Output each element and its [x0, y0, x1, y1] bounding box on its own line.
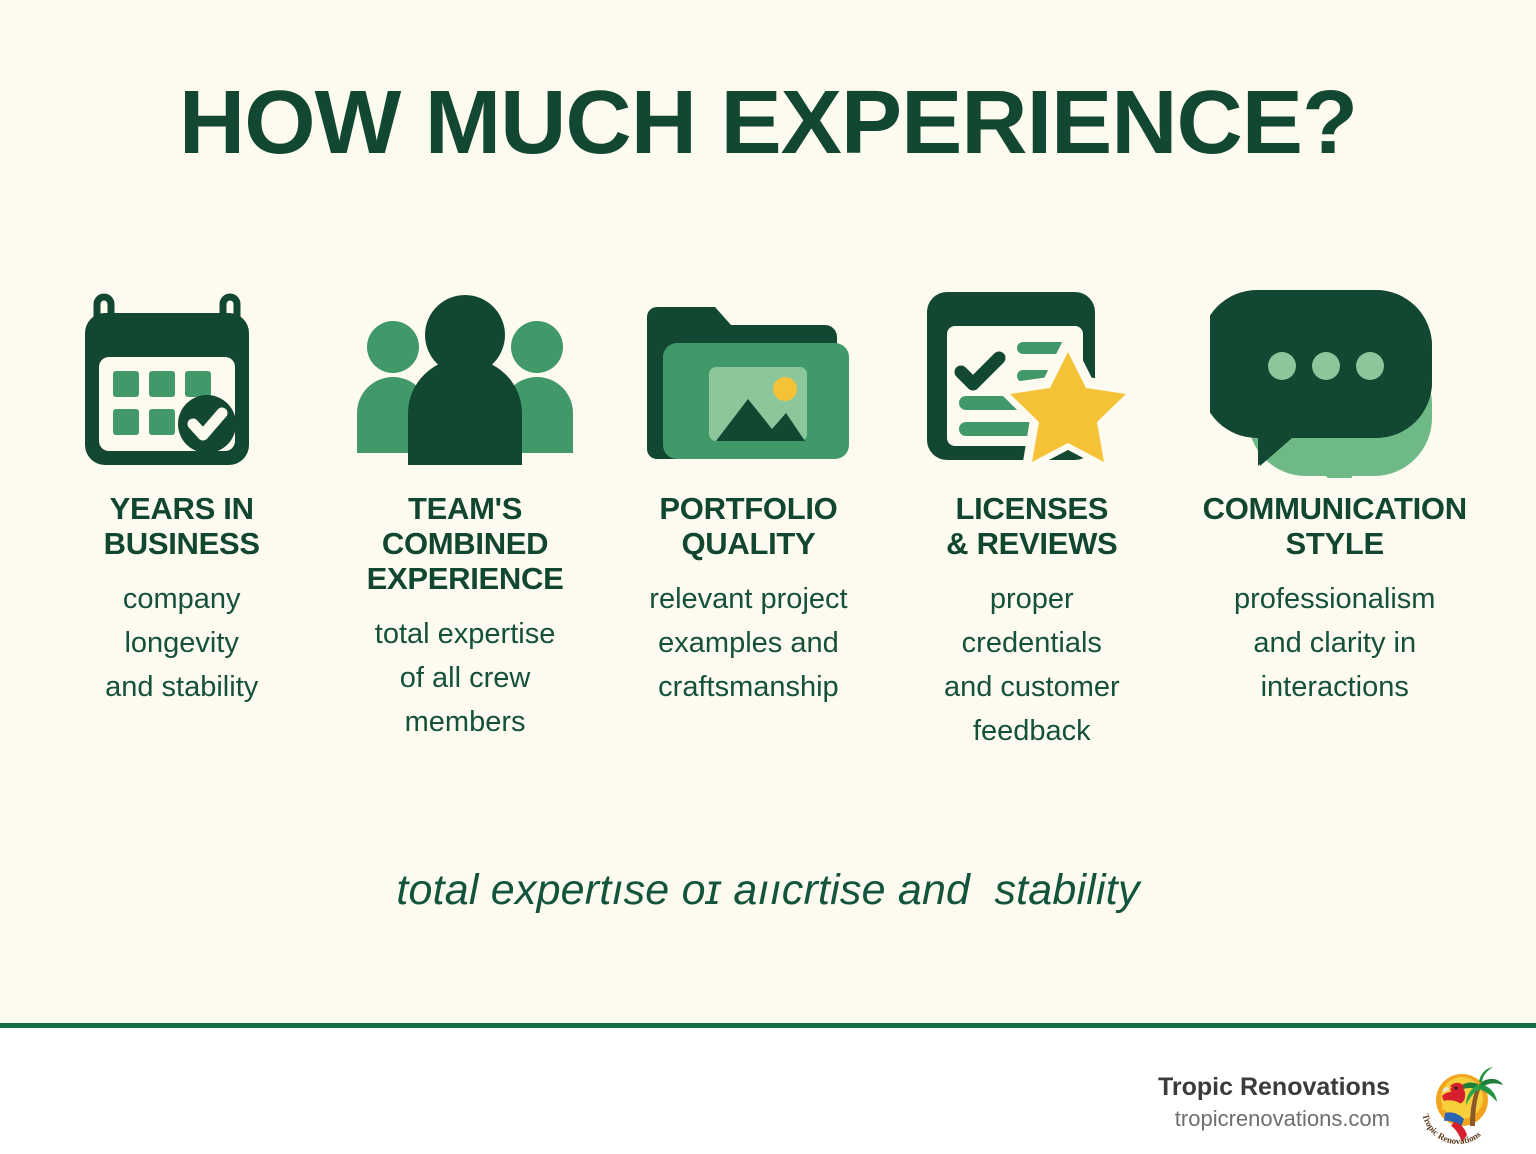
column-description: professionalism and clarity in interacti…: [1234, 577, 1435, 709]
column-title: COMMUNICATION STYLE: [1203, 491, 1467, 561]
column-description: relevant project examples and craftsmans…: [649, 577, 847, 709]
brand-name: Tropic Renovations: [1158, 1071, 1390, 1104]
infographic-poster: HOW MUCH EXPERIENCE? YEARS: [0, 0, 1536, 1154]
column-title: LICENSES & REVIEWS: [946, 491, 1117, 561]
column-team-experience: TEAM'S COMBINED EXPERIENCE total experti…: [323, 270, 606, 744]
folder-photo-icon: [633, 270, 863, 485]
footer-text: Tropic Renovations tropicrenovations.com: [1158, 1071, 1390, 1133]
footer: Tropic Renovations tropicrenovations.com: [0, 1028, 1536, 1154]
column-description: company longevity and stability: [105, 577, 258, 709]
tropic-renovations-logo: Tropic Renovations: [1412, 1056, 1504, 1148]
certificate-star-icon: [917, 270, 1147, 485]
column-portfolio-quality: PORTFOLIO QUALITY relevant project examp…: [607, 270, 890, 709]
page-title: HOW MUCH EXPERIENCE?: [0, 78, 1536, 168]
column-communication-style: COMMUNICATION STYLE professionalism and …: [1174, 270, 1496, 709]
feature-columns: YEARS IN BUSINESS company longevity and …: [40, 270, 1496, 753]
column-title: PORTFOLIO QUALITY: [659, 491, 837, 561]
summary-caption: total expertıse oɪ aııcrtise and stabili…: [0, 866, 1536, 915]
column-description: proper credentials and customer feedback: [944, 577, 1120, 753]
column-licenses-reviews: LICENSES & REVIEWS proper credentials an…: [890, 270, 1173, 753]
column-title: YEARS IN BUSINESS: [104, 491, 260, 561]
speech-bubbles-icon: [1210, 270, 1460, 485]
calendar-check-icon: [77, 270, 287, 485]
footer-branding: Tropic Renovations tropicrenovations.com: [1158, 1056, 1504, 1148]
column-description: total expertise of all crew members: [375, 612, 556, 744]
column-years-in-business: YEARS IN BUSINESS company longevity and …: [40, 270, 323, 709]
brand-url[interactable]: tropicrenovations.com: [1158, 1104, 1390, 1133]
team-people-icon: [345, 270, 585, 485]
column-title: TEAM'S COMBINED EXPERIENCE: [367, 491, 564, 596]
